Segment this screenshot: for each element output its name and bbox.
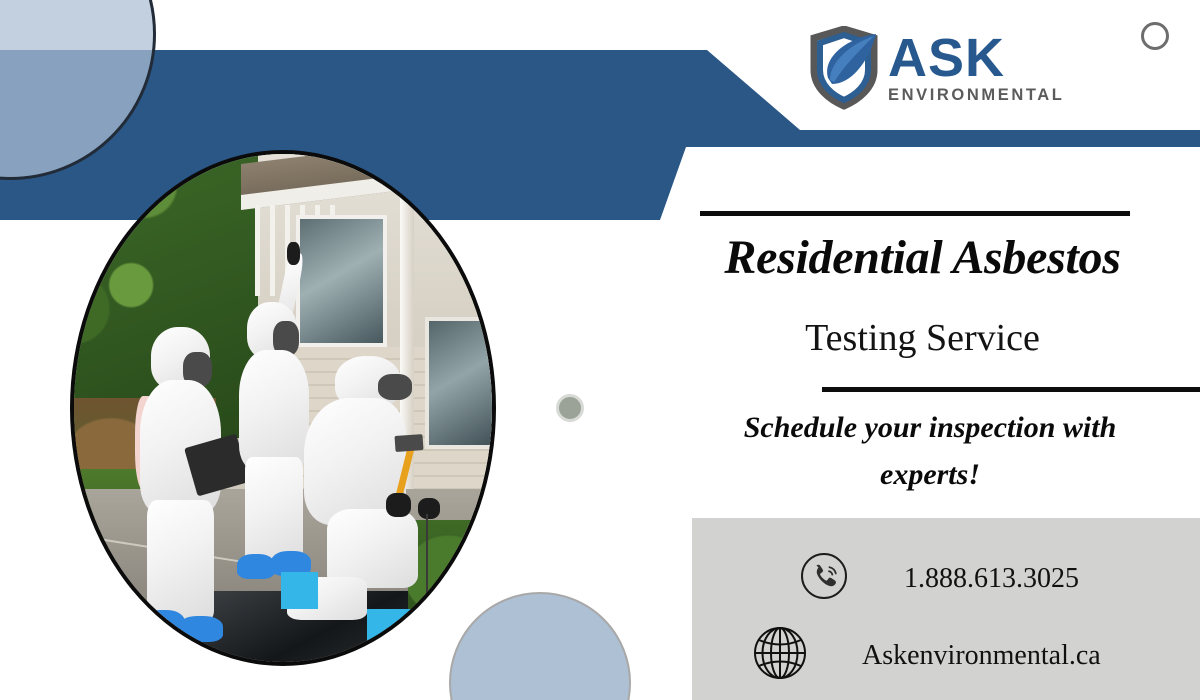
globe-icon [750, 623, 810, 688]
contact-website-url: Askenvironmental.ca [862, 640, 1101, 672]
worker-legs [245, 457, 303, 564]
worker-glove-right [418, 498, 441, 519]
worker-shoe-cover-right [367, 609, 418, 643]
worker-respirator [378, 374, 412, 400]
logo-secondary-text: ENVIRONMENTAL [888, 87, 1065, 104]
contact-phone-number: 1.888.613.3025 [904, 563, 1079, 595]
worker-shoe-cover-left [237, 554, 275, 579]
contact-phone-row[interactable]: 1.888.613.3025 [800, 552, 1079, 605]
tagline-text: Schedule your inspection with experts! [690, 405, 1170, 498]
shield-leaf-icon [806, 26, 882, 110]
worker-glove-left [386, 493, 410, 517]
poster-canvas: ASK ENVIRONMENTAL Residential Asbestos T… [0, 0, 1200, 700]
phone-in-circle-icon [800, 552, 848, 605]
hammer-head-icon [394, 434, 423, 452]
photo-worker-kneeling [296, 398, 438, 662]
worker-thigh [327, 509, 418, 588]
worker-legs [147, 500, 215, 620]
photo-worker-left [124, 327, 237, 642]
worker-shoe-cover-left [281, 572, 318, 609]
sampling-tool-cord [426, 514, 428, 599]
logo-primary-text: ASK [888, 33, 1065, 84]
contact-panel: 1.888.613.3025 Askenvironmental.ca [692, 518, 1200, 700]
hero-photo [70, 150, 496, 666]
decor-ring-top-right [1141, 22, 1169, 50]
page-subtitle: Testing Service [650, 316, 1195, 360]
divider-top [700, 211, 1130, 216]
worker-shoe-cover-right [178, 616, 223, 641]
contact-website-row[interactable]: Askenvironmental.ca [750, 623, 1101, 688]
decor-dot-middle [556, 394, 584, 422]
hero-photo-scene [74, 154, 492, 662]
brand-logo[interactable]: ASK ENVIRONMENTAL [806, 22, 1064, 114]
logo-wordmark: ASK ENVIRONMENTAL [888, 33, 1065, 104]
divider-middle [822, 387, 1200, 392]
worker-glove [287, 242, 300, 264]
page-title: Residential Asbestos [650, 233, 1195, 284]
